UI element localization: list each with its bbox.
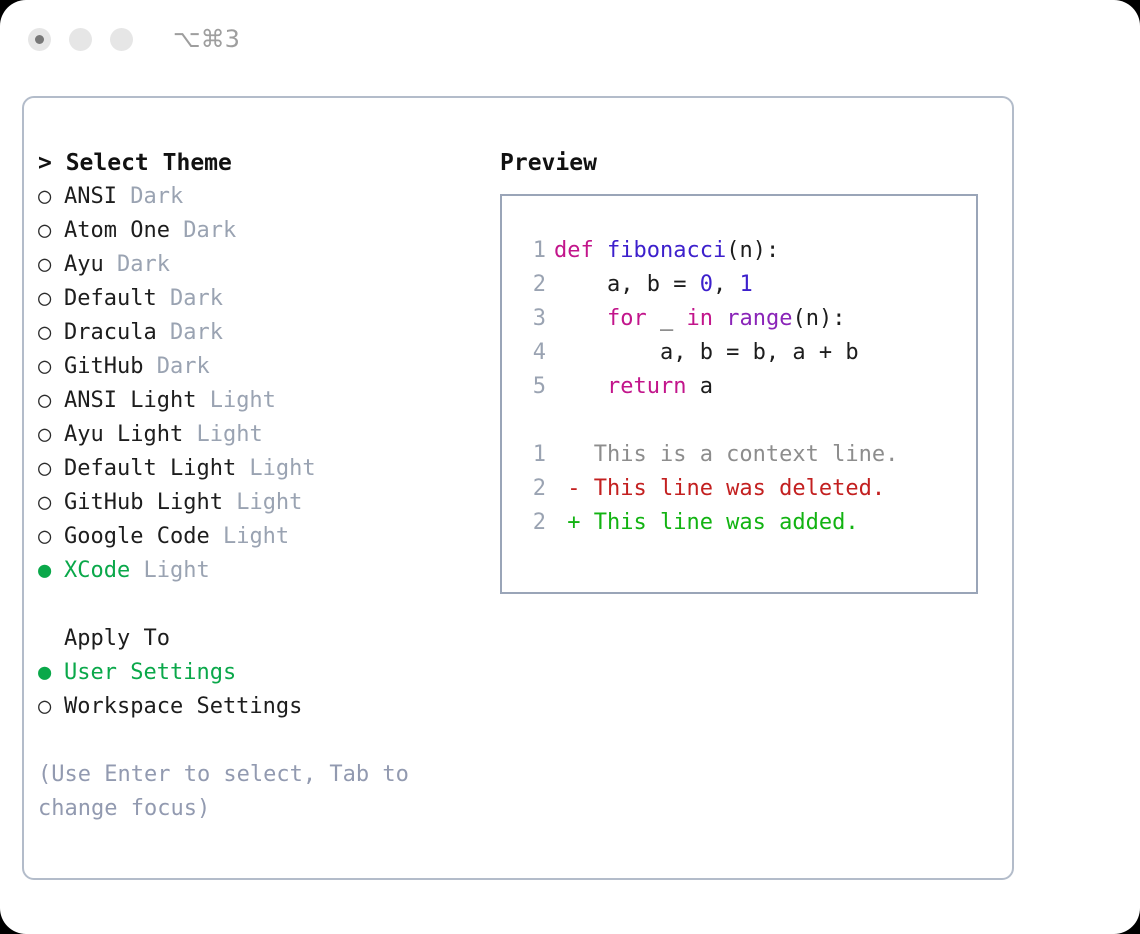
theme-option-label: Ayu — [64, 252, 104, 277]
apply-to-heading-indent — [38, 622, 64, 656]
code-token-plain — [713, 306, 726, 331]
code-sample: 1def fibonacci(n):2 a, b = 0, 13 for _ i… — [520, 234, 976, 404]
apply-to-list: ●User Settings○Workspace Settings — [38, 656, 508, 724]
theme-option-github[interactable]: ○GitHub Dark — [38, 350, 508, 384]
diff-line-text: This is a context line. — [554, 442, 898, 467]
apply-to-option-workspace-settings[interactable]: ○Workspace Settings — [38, 690, 508, 724]
code-token-fn: fibonacci — [607, 238, 726, 263]
diff-line-del: 2 - This line was deleted. — [520, 472, 976, 506]
code-line: 2 a, b = 0, 1 — [520, 268, 976, 302]
theme-option-variant-tag: Light — [196, 388, 275, 413]
theme-option-label: ANSI Light — [64, 388, 196, 413]
line-number: 5 — [520, 370, 546, 404]
diff-line-add: 2 + This line was added. — [520, 506, 976, 540]
title-bar: ⌥⌘3 — [0, 0, 1140, 78]
code-token-plain: a, b = b, a + b — [554, 340, 859, 365]
code-token-plain: , — [713, 272, 740, 297]
theme-option-label: ANSI — [64, 184, 117, 209]
window-controls — [28, 28, 133, 51]
apply-to-heading-label: Apply To — [64, 626, 170, 651]
radio-unselected-icon: ○ — [38, 350, 64, 384]
theme-option-atom-one[interactable]: ○Atom One Dark — [38, 214, 508, 248]
theme-list: ○ANSI Dark○Atom One Dark○Ayu Dark○Defaul… — [38, 180, 508, 588]
diff-line-text: + This line was added. — [554, 510, 859, 535]
code-token-kw: in — [686, 306, 713, 331]
line-number: 2 — [520, 506, 546, 540]
radio-unselected-icon: ○ — [38, 282, 64, 316]
window-dot-second-icon[interactable] — [69, 28, 92, 51]
theme-option-github-light[interactable]: ○GitHub Light Light — [38, 486, 508, 520]
line-number: 1 — [520, 234, 546, 268]
theme-option-label: GitHub — [64, 354, 143, 379]
diff-line-ctx: 1 This is a context line. — [520, 438, 976, 472]
code-token-kw: return — [607, 374, 686, 399]
code-token-plain — [594, 238, 607, 263]
theme-option-label: Default Light — [64, 456, 236, 481]
theme-option-label: Dracula — [64, 320, 157, 345]
radio-selected-icon: ● — [38, 554, 64, 588]
window-dot-third-icon[interactable] — [110, 28, 133, 51]
theme-selection-panel: > Select Theme ○ANSI Dark○Atom One Dark○… — [38, 146, 508, 826]
preview-box: 1def fibonacci(n):2 a, b = 0, 13 for _ i… — [500, 194, 978, 594]
code-token-plain: _ — [647, 306, 687, 331]
code-token-num: 0 — [700, 272, 713, 297]
theme-option-label: Atom One — [64, 218, 170, 243]
code-token-plain: a — [686, 374, 713, 399]
apply-to-option-label: Workspace Settings — [64, 694, 302, 719]
preview-spacer — [520, 404, 976, 438]
window-dot-inner — [35, 35, 44, 44]
radio-unselected-icon: ○ — [38, 520, 64, 554]
code-line: 1def fibonacci(n): — [520, 234, 976, 268]
line-number: 2 — [520, 472, 546, 506]
theme-option-variant-tag: Light — [130, 558, 209, 583]
theme-option-label: Default — [64, 286, 157, 311]
code-token-plain: (n): — [792, 306, 845, 331]
theme-option-default-light[interactable]: ○Default Light Light — [38, 452, 508, 486]
diff-sample: 1 This is a context line.2 - This line w… — [520, 438, 976, 540]
theme-option-variant-tag: Light — [236, 456, 315, 481]
theme-option-label: GitHub Light — [64, 490, 223, 515]
code-token-plain: (n): — [726, 238, 779, 263]
code-token-kw: for — [607, 306, 647, 331]
preview-panel: Preview 1def fibonacci(n):2 a, b = 0, 13… — [500, 146, 1000, 594]
radio-unselected-icon: ○ — [38, 180, 64, 214]
theme-option-variant-tag: Light — [183, 422, 262, 447]
code-token-plain: a, b = — [554, 272, 700, 297]
theme-option-variant-tag: Dark — [157, 286, 223, 311]
radio-unselected-icon: ○ — [38, 418, 64, 452]
theme-option-default[interactable]: ○Default Dark — [38, 282, 508, 316]
preview-heading: Preview — [500, 146, 1000, 180]
theme-option-ayu-light[interactable]: ○Ayu Light Light — [38, 418, 508, 452]
code-line: 5 return a — [520, 370, 976, 404]
radio-unselected-icon: ○ — [38, 214, 64, 248]
line-number: 2 — [520, 268, 546, 302]
theme-option-variant-tag: Dark — [170, 218, 236, 243]
code-token-kw: def — [554, 238, 594, 263]
theme-option-ayu[interactable]: ○Ayu Dark — [38, 248, 508, 282]
theme-option-ansi-light[interactable]: ○ANSI Light Light — [38, 384, 508, 418]
theme-option-variant-tag: Dark — [117, 184, 183, 209]
line-number: 4 — [520, 336, 546, 370]
theme-option-xcode[interactable]: ●XCode Light — [38, 554, 508, 588]
apply-to-option-user-settings[interactable]: ●User Settings — [38, 656, 508, 690]
theme-option-variant-tag: Light — [223, 490, 302, 515]
line-number: 1 — [520, 438, 546, 472]
window-dot-active-icon[interactable] — [28, 28, 51, 51]
radio-unselected-icon: ○ — [38, 248, 64, 282]
radio-unselected-icon: ○ — [38, 316, 64, 350]
select-theme-heading: > Select Theme — [38, 146, 508, 180]
theme-option-ansi[interactable]: ○ANSI Dark — [38, 180, 508, 214]
theme-option-label: Google Code — [64, 524, 210, 549]
keyboard-shortcut-label: ⌥⌘3 — [173, 25, 240, 53]
theme-option-google-code[interactable]: ○Google Code Light — [38, 520, 508, 554]
theme-option-variant-tag: Dark — [104, 252, 170, 277]
line-number: 3 — [520, 302, 546, 336]
theme-option-dracula[interactable]: ○Dracula Dark — [38, 316, 508, 350]
theme-option-variant-tag: Dark — [157, 320, 223, 345]
theme-option-label: XCode — [64, 558, 130, 583]
keyboard-hint-text: (Use Enter to select, Tab to change focu… — [38, 758, 448, 826]
radio-unselected-icon: ○ — [38, 486, 64, 520]
theme-option-variant-tag: Dark — [143, 354, 209, 379]
code-token-plain — [554, 306, 607, 331]
radio-unselected-icon: ○ — [38, 384, 64, 418]
radio-unselected-icon: ○ — [38, 690, 64, 724]
apply-to-heading: Apply To — [38, 622, 508, 656]
theme-option-label: Ayu Light — [64, 422, 183, 447]
code-token-builtin: range — [726, 306, 792, 331]
diff-line-text: - This line was deleted. — [554, 476, 885, 501]
radio-unselected-icon: ○ — [38, 452, 64, 486]
app-window: ⌥⌘3 > Select Theme ○ANSI Dark○Atom One D… — [0, 0, 1140, 934]
code-line: 3 for _ in range(n): — [520, 302, 976, 336]
code-token-plain — [554, 374, 607, 399]
code-line: 4 a, b = b, a + b — [520, 336, 976, 370]
theme-picker-card: > Select Theme ○ANSI Dark○Atom One Dark○… — [22, 96, 1014, 880]
radio-selected-icon: ● — [38, 656, 64, 690]
theme-option-variant-tag: Light — [210, 524, 289, 549]
apply-to-option-label: User Settings — [64, 660, 236, 685]
code-token-num: 1 — [739, 272, 752, 297]
